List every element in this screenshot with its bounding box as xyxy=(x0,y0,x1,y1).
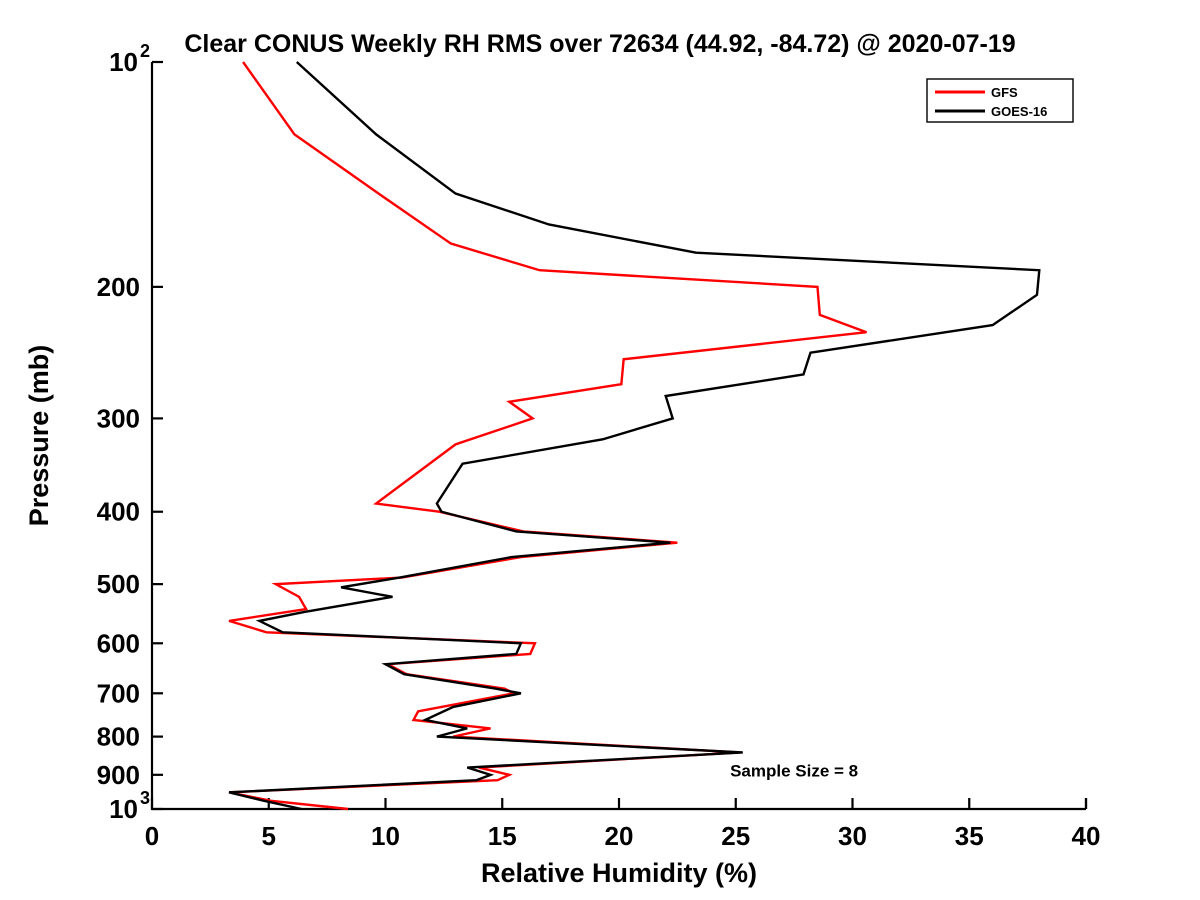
y-tick-label: 200 xyxy=(97,272,140,302)
y-tick-label: 600 xyxy=(97,628,140,658)
x-tick-label: 30 xyxy=(838,821,867,851)
x-tick-label: 15 xyxy=(488,821,517,851)
chart-title: Clear CONUS Weekly RH RMS over 72634 (44… xyxy=(184,30,1015,58)
legend-label-gfs: GFS xyxy=(991,85,1018,100)
y-tick-label: 10 xyxy=(109,47,138,77)
x-tick-label: 10 xyxy=(371,821,400,851)
y-tick-label: 900 xyxy=(97,760,140,790)
legend-label-goes-16: GOES-16 xyxy=(991,104,1047,119)
x-tick-label: 5 xyxy=(262,821,276,851)
annotation-sample-size: Sample Size = 8 xyxy=(730,762,858,781)
x-tick-label: 40 xyxy=(1072,821,1101,851)
y-tick-label: 700 xyxy=(97,678,140,708)
x-tick-label: 0 xyxy=(145,821,159,851)
rh-rms-profile-chart: Clear CONUS Weekly RH RMS over 72634 (44… xyxy=(0,0,1200,900)
x-axis-label: Relative Humidity (%) xyxy=(481,858,757,888)
y-tick-label: 800 xyxy=(97,722,140,752)
y-tick-label: 500 xyxy=(97,569,140,599)
y-tick-label-exponent: 2 xyxy=(140,41,150,61)
y-tick-label: 300 xyxy=(97,403,140,433)
y-tick-label: 10 xyxy=(109,794,138,824)
x-tick-label: 20 xyxy=(605,821,634,851)
x-tick-label: 25 xyxy=(721,821,750,851)
series-line-gfs xyxy=(229,62,866,809)
x-tick-label: 35 xyxy=(955,821,984,851)
y-tick-label-exponent: 3 xyxy=(140,788,150,808)
y-axis-label: Pressure (mb) xyxy=(24,345,54,527)
y-tick-label: 400 xyxy=(97,497,140,527)
chart-figure: Clear CONUS Weekly RH RMS over 72634 (44… xyxy=(0,0,1200,900)
